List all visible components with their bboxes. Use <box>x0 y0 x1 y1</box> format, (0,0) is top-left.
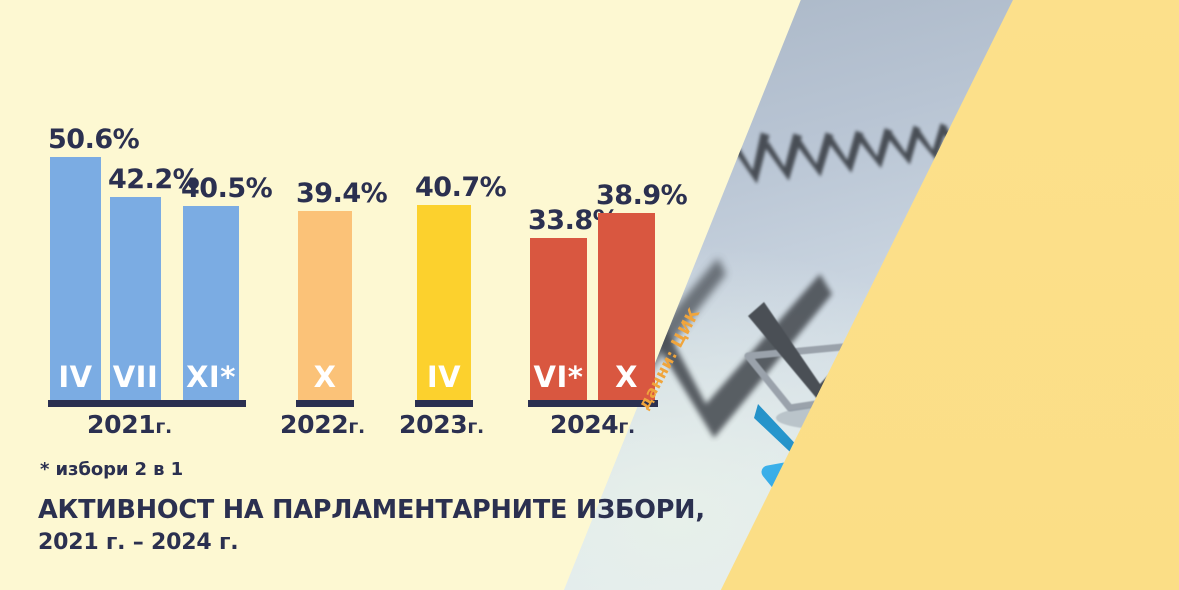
infographic-root: 50.6% IV 42.2% VII 40.5% XI* 39.4% X 40.… <box>0 0 1179 590</box>
year-label-2022: 2022г. <box>280 410 365 439</box>
bar-month-label: XI* <box>183 363 239 392</box>
year-text: 2021 <box>87 410 155 439</box>
year-text: 2023 <box>399 410 467 439</box>
bar-2024-x: 38.9% X <box>598 213 655 400</box>
bar-value-label: 38.9% <box>596 182 687 209</box>
axis-baseline <box>415 400 473 407</box>
bar-2021-iv: 50.6% IV <box>50 157 101 400</box>
year-label-2023: 2023г. <box>399 410 484 439</box>
year-suffix: г. <box>155 416 172 438</box>
bar-2021-xi: 40.5% XI* <box>183 206 239 400</box>
year-suffix: г. <box>348 416 365 438</box>
axis-baseline <box>48 400 246 407</box>
footnote: * избори 2 в 1 <box>40 459 183 480</box>
bar-2021-vii: 42.2% VII <box>110 197 161 400</box>
title-line-2: 2021 г. – 2024 г. <box>38 528 705 557</box>
bar-month-label: X <box>298 363 352 392</box>
page-title: АКТИВНОСТ НА ПАРЛАМЕНТАРНИТЕ ИЗБОРИ, 202… <box>38 494 705 557</box>
bar-2022-x: 39.4% X <box>298 211 352 400</box>
year-suffix: г. <box>618 416 635 438</box>
axis-baseline <box>296 400 354 407</box>
bar-2024-vi: 33.8% VI* <box>530 238 587 400</box>
bar-month-label: VII <box>110 363 161 392</box>
bar-value-label: 50.6% <box>48 126 139 153</box>
year-label-2021: 2021г. <box>87 410 172 439</box>
bar-value-label: 40.5% <box>181 175 272 202</box>
year-text: 2024 <box>550 410 618 439</box>
bar-month-label: IV <box>50 363 101 392</box>
title-line-1: АКТИВНОСТ НА ПАРЛАМЕНТАРНИТЕ ИЗБОРИ, <box>38 494 705 528</box>
year-label-2024: 2024г. <box>550 410 635 439</box>
bar-2023-iv: 40.7% IV <box>417 205 471 400</box>
bar-month-label: IV <box>417 363 471 392</box>
bar-value-label: 39.4% <box>296 180 387 207</box>
bar-month-label: VI* <box>530 363 587 392</box>
year-suffix: г. <box>467 416 484 438</box>
bar-value-label: 40.7% <box>415 174 506 201</box>
year-text: 2022 <box>280 410 348 439</box>
